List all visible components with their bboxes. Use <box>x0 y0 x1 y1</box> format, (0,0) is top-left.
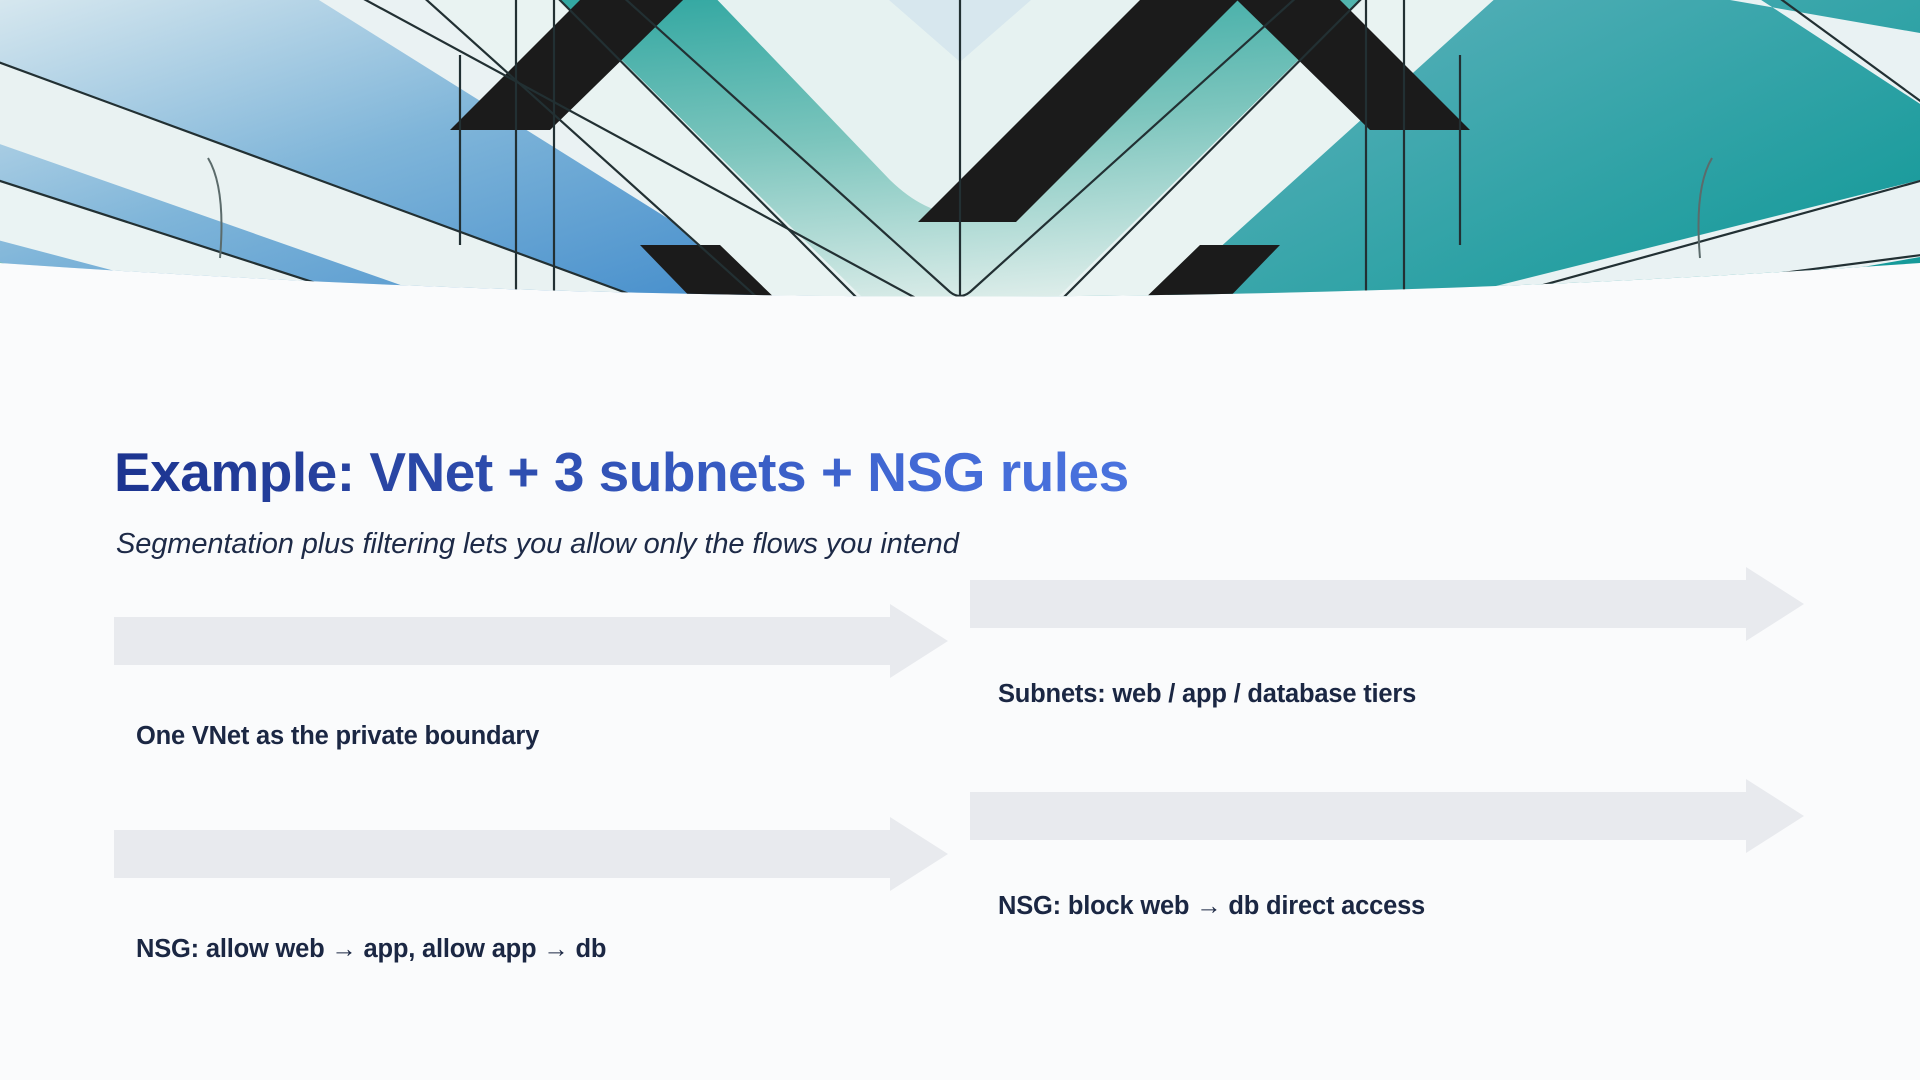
right-arrow-icon <box>114 604 948 678</box>
slide-content: Example: VNet + 3 subnets + NSG rules Se… <box>0 320 1920 1080</box>
list-item-label: NSG: block web → db direct access <box>998 892 1425 921</box>
list-item-label: Subnets: web / app / database tiers <box>998 680 1416 709</box>
hero-banner <box>0 0 1920 320</box>
list-item-subnets: Subnets: web / app / database tiers <box>970 567 1804 641</box>
list-item-label: NSG: allow web → app, allow app → db <box>136 935 606 964</box>
page-title: Example: VNet + 3 subnets + NSG rules <box>114 442 1129 503</box>
list-item-nsg-block: NSG: block web → db direct access <box>970 779 1804 853</box>
list-item-vnet: One VNet as the private boundary <box>114 604 948 678</box>
right-arrow-icon <box>970 779 1804 853</box>
hero-isometric-artwork <box>0 0 1920 320</box>
right-arrow-icon <box>970 567 1804 641</box>
page-subtitle: Segmentation plus filtering lets you all… <box>116 528 959 561</box>
right-arrow-icon <box>114 817 948 891</box>
list-item-nsg-allow: NSG: allow web → app, allow app → db <box>114 817 948 891</box>
list-item-label: One VNet as the private boundary <box>136 722 539 751</box>
